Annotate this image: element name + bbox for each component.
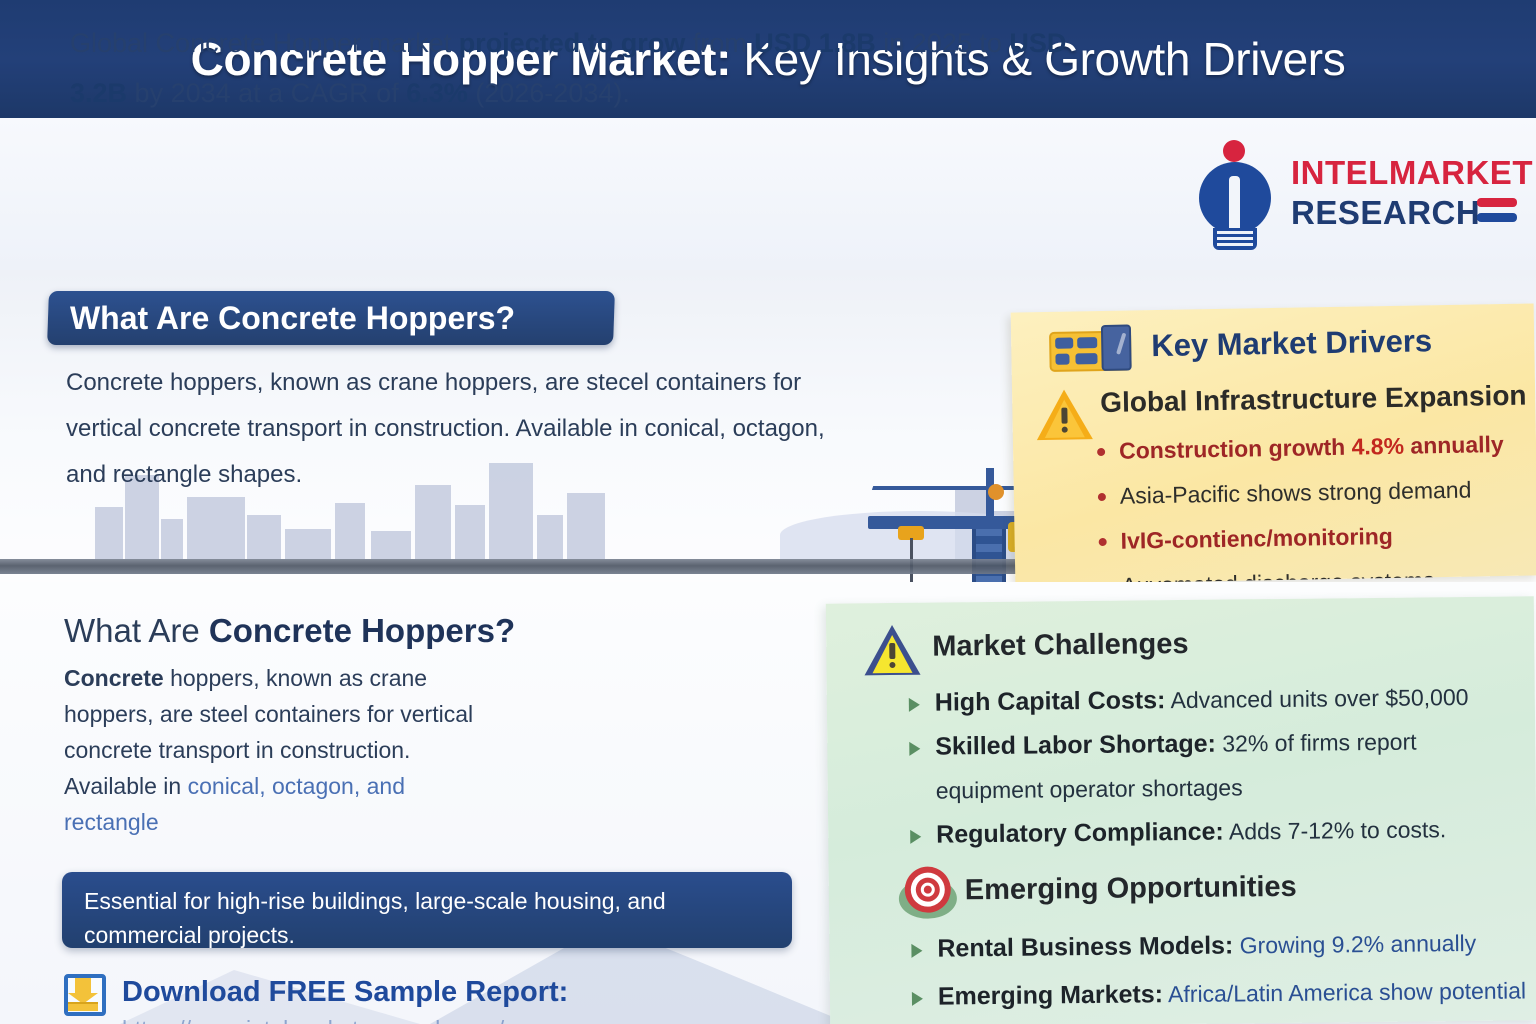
intro-summary: Global Concrete Hopper market projected … (70, 18, 1080, 118)
intro-bold-cagr: 6.3% (406, 78, 468, 108)
opportunity-value: Growing 9.2% annually (1233, 930, 1476, 959)
intro-part-5: (2026-2034). (468, 78, 630, 108)
intro-part-4: by 2034 at a CAGR of (127, 78, 406, 108)
section-badge-label: What Are Concrete Hoppers? (48, 300, 515, 337)
challenge-label: High Capital Costs: (935, 686, 1166, 716)
lower-paragraph-bold: Concrete (64, 665, 164, 691)
drivers-list-item: IvIG-contienc/monitoring (1096, 512, 1527, 564)
logo-word-research: RESEARCH (1291, 194, 1480, 232)
drivers-panel-subtitle: Global Infrastructure Expansion (1100, 380, 1527, 419)
challenges-list: High Capital Costs: Advanced units over … (907, 674, 1529, 856)
upper-description-paragraph: Concrete hoppers, known as crane hoppers… (66, 360, 866, 498)
opportunity-item: Emerging Markets: Africa/Latin America s… (910, 966, 1536, 1021)
challenge-value: Adds 7-12% to costs. (1224, 816, 1447, 844)
download-url-link[interactable]: https://www.intelmarketresearch.com/ (122, 1016, 504, 1024)
lightbulb-icon (1185, 140, 1281, 244)
challenge-item: Skilled Labor Shortage: 32% of firms rep… (907, 718, 1527, 768)
opportunities-list: Rental Business Models: Growing 9.2% ann… (909, 918, 1536, 1021)
intro-bold-grow: projected to grow (459, 28, 686, 58)
challenge-item: Regulatory Compliance: Adds 7-12% to cos… (908, 806, 1528, 856)
warning-triangle-icon (1036, 389, 1093, 440)
opportunities-title: Emerging Opportunities (965, 871, 1297, 907)
brand-logo: INTELMARKET RESEARCH (1185, 136, 1515, 248)
challenges-opportunities-panel: Market Challenges High Capital Costs: Ad… (826, 596, 1536, 1024)
challenges-title: Market Challenges (932, 628, 1189, 664)
challenge-value: Advanced units over $50,000 (1165, 684, 1468, 713)
logo-bars-icon (1477, 198, 1517, 222)
section-badge-what-are-concrete-hoppers: What Are Concrete Hoppers? (47, 291, 615, 345)
toolbox-icon (1049, 322, 1132, 375)
logo-word-intelmarket: INTELMARKET (1291, 154, 1533, 192)
opportunity-label: Rental Business Models: (937, 931, 1233, 962)
key-market-drivers-panel: Key Market Drivers Global Infrastructure… (1011, 303, 1536, 584)
lower-heading-light: What Are (64, 612, 209, 649)
download-label[interactable]: Download FREE Sample Report: (122, 976, 568, 1009)
drivers-list-item: Asia-Pacific shows strong demand (1095, 467, 1526, 519)
challenge-label: Skilled Labor Shortage: (935, 730, 1216, 761)
challenge-item: High Capital Costs: Advanced units over … (907, 674, 1527, 724)
driver-text-before: Construction growth (1119, 434, 1352, 464)
essential-use-callout: Essential for high-rise buildings, large… (62, 872, 792, 948)
intro-part-2: from (685, 28, 754, 58)
opportunity-label: Emerging Markets: (938, 980, 1163, 1010)
lower-paragraph: Concrete hoppers, known as crane hoppers… (64, 660, 494, 840)
challenge-value: 32% of firms report (1216, 729, 1417, 757)
lower-heading: What Are Concrete Hoppers? (64, 612, 515, 650)
challenge-item-continuation: equipment operator shortages (908, 762, 1528, 812)
callout-text: Essential for high-rise buildings, large… (84, 884, 770, 952)
driver-accent-value: 4.8% (1351, 433, 1404, 460)
drivers-list-item: Construction growth 4.8% annually (1095, 422, 1526, 474)
drivers-list: Construction growth 4.8% annually Asia-P… (1095, 422, 1528, 585)
download-icon[interactable] (64, 974, 106, 1016)
drivers-panel-title: Key Market Drivers (1151, 323, 1432, 364)
download-sample-report-row[interactable]: Download FREE Sample Report: https://www… (64, 972, 664, 1022)
intro-bold-start-value: USD 1.8B (754, 28, 876, 58)
lower-heading-bold: Concrete Hoppers? (209, 612, 515, 649)
warning-triangle-icon (864, 625, 921, 676)
target-icon (897, 864, 960, 927)
intro-part-3: in 2025 to (876, 28, 1010, 58)
intro-part-1: Global Concrete Hopper market (70, 28, 459, 58)
opportunity-value: Africa/Latin America show potential (1163, 977, 1526, 1007)
challenge-label: Regulatory Compliance: (936, 818, 1224, 849)
opportunity-item: Rental Business Models: Growing 9.2% ann… (909, 918, 1536, 973)
driver-text-after: annually (1404, 431, 1504, 459)
